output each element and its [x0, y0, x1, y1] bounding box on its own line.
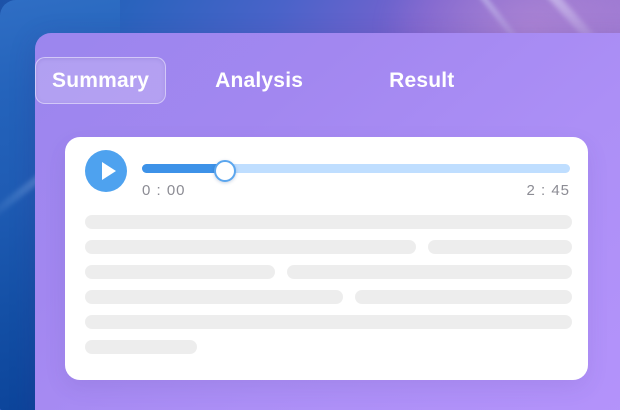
- skeleton-bar: [428, 240, 572, 254]
- skeleton-bar: [85, 290, 343, 304]
- skeleton-bar: [355, 290, 572, 304]
- skeleton-row: [85, 315, 572, 329]
- time-row: 0 : 00 2 : 45: [142, 183, 570, 198]
- progress-slider[interactable]: [142, 164, 570, 173]
- play-triangle-icon: [102, 162, 116, 180]
- skeleton-bar: [85, 265, 275, 279]
- tab-result[interactable]: Result: [372, 57, 471, 104]
- tab-summary[interactable]: Summary: [35, 57, 166, 104]
- skeleton-gap: [275, 265, 287, 279]
- skeleton-row: [85, 215, 572, 229]
- play-button[interactable]: [85, 150, 127, 192]
- current-time-label: 0 : 00: [142, 183, 186, 198]
- skeleton-gap: [416, 240, 428, 254]
- skeleton-row: [85, 290, 572, 304]
- skeleton-gap: [343, 290, 355, 304]
- audio-player: 0 : 00 2 : 45: [85, 150, 580, 212]
- skeleton-bar: [85, 340, 197, 354]
- progress-track-fill: [142, 164, 223, 173]
- skeleton-row: [85, 340, 572, 354]
- skeleton-bar: [85, 315, 572, 329]
- content-card: 0 : 00 2 : 45: [65, 137, 588, 380]
- skeleton-bar: [287, 265, 572, 279]
- skeleton-row: [85, 265, 572, 279]
- total-time-label: 2 : 45: [526, 183, 570, 198]
- skeleton-bar: [85, 240, 416, 254]
- skeleton-row: [85, 240, 572, 254]
- screenshot-stage: Summary Analysis Result 0 : 00 2 : 45: [0, 0, 620, 410]
- progress-thumb-handle[interactable]: [214, 160, 236, 182]
- tab-analysis[interactable]: Analysis: [198, 57, 320, 104]
- tab-bar: Summary Analysis Result: [35, 57, 472, 103]
- skeleton-bar: [85, 215, 572, 229]
- transcript-skeleton: [85, 215, 572, 365]
